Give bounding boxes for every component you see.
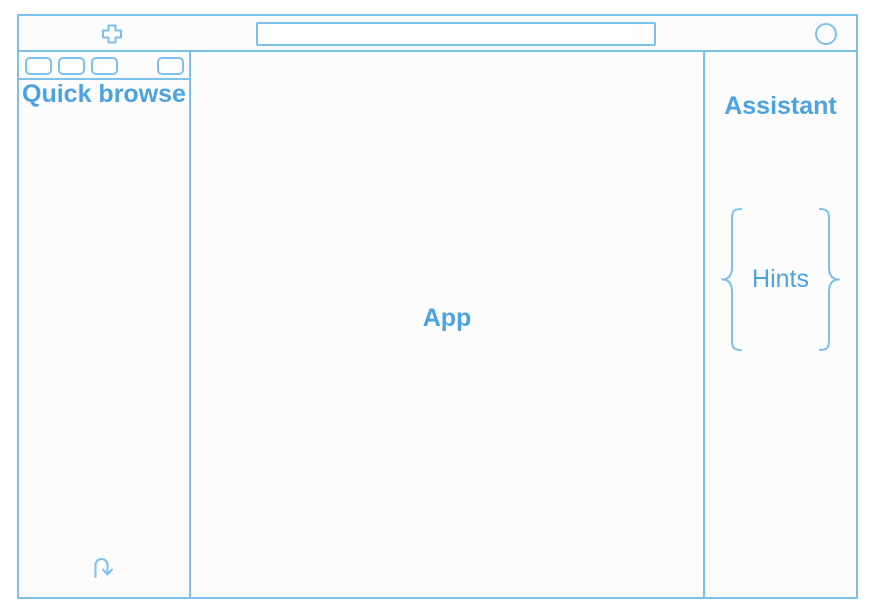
- hints-group: Hints: [705, 207, 856, 352]
- address-bar-input[interactable]: [256, 22, 656, 46]
- u-turn-arrow-icon[interactable]: [89, 553, 119, 583]
- sidebar-title: Quick browse: [19, 78, 189, 111]
- app-content-panel: App: [191, 52, 705, 597]
- app-label: App: [191, 46, 703, 591]
- profile-circle-icon[interactable]: [814, 22, 838, 46]
- reload-button[interactable]: [91, 57, 118, 75]
- assistant-panel: Assistant Hints: [705, 52, 856, 597]
- browser-window: Quick browse App Assistant Hints: [17, 14, 858, 599]
- window-body: Quick browse App Assistant Hints: [19, 52, 856, 597]
- forward-button[interactable]: [58, 57, 85, 75]
- plus-icon[interactable]: [97, 23, 127, 45]
- wireframe-canvas: Quick browse App Assistant Hints: [0, 0, 879, 616]
- assistant-title: Assistant: [705, 92, 856, 121]
- back-button[interactable]: [25, 57, 52, 75]
- right-curly-brace-icon: [816, 207, 842, 352]
- quick-browse-sidebar: Quick browse: [19, 52, 191, 597]
- sidebar-toolbar: [19, 52, 189, 80]
- menu-button[interactable]: [157, 57, 184, 75]
